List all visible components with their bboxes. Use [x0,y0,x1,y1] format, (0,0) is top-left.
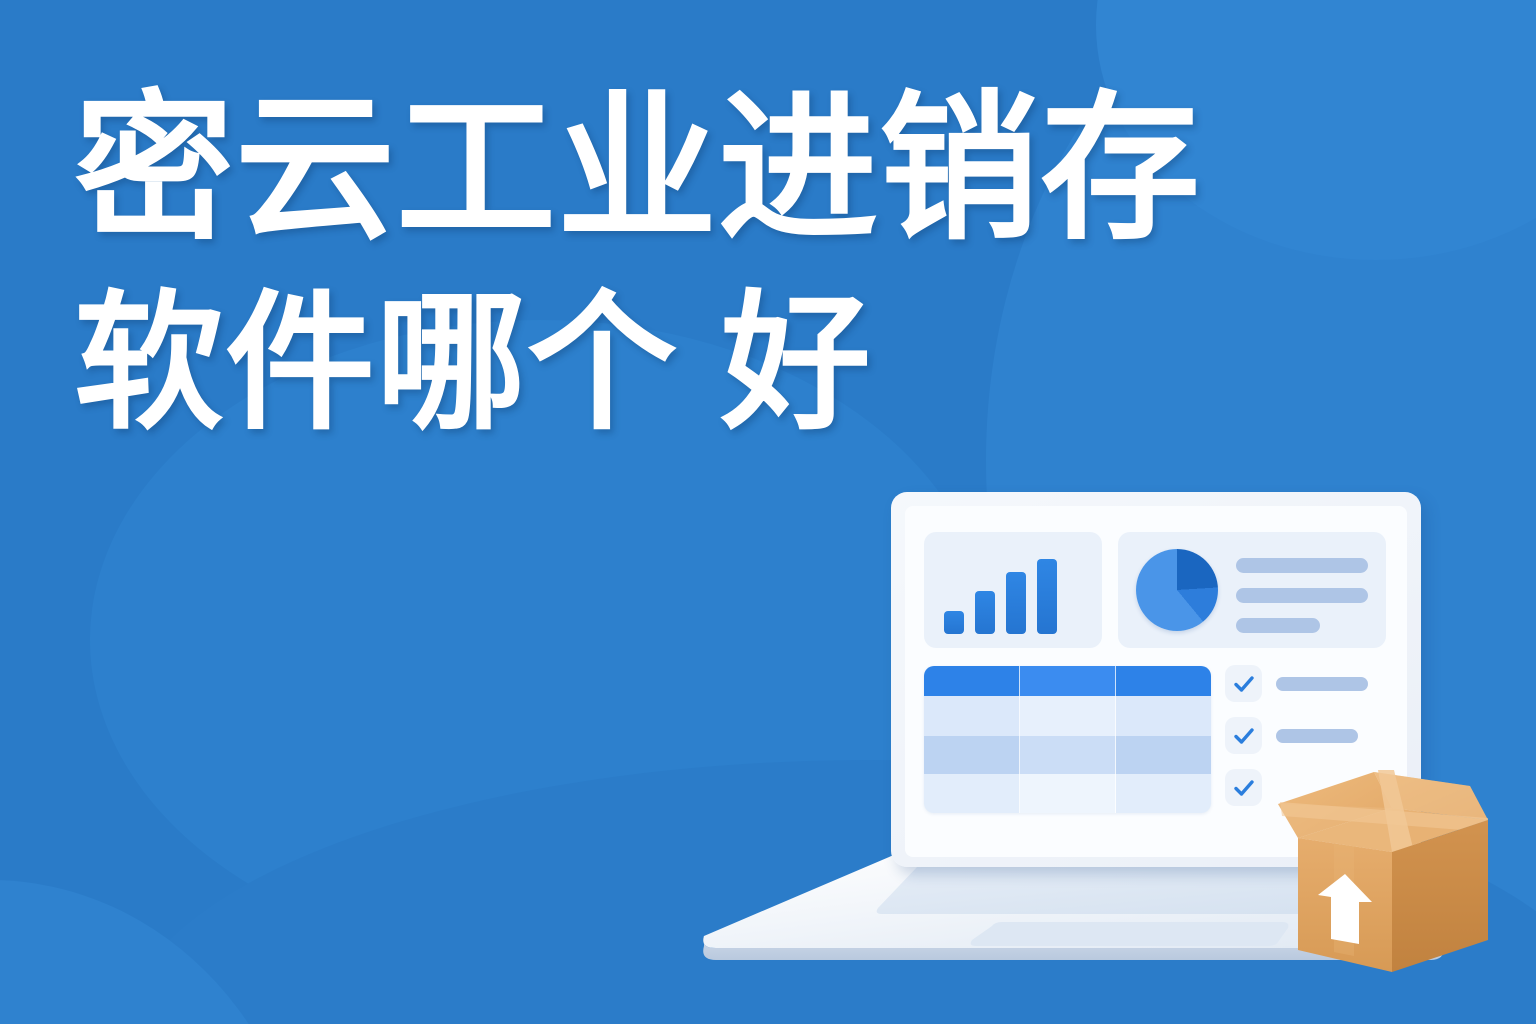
checklist-item-bar [1276,729,1358,743]
poster-canvas: 密云工业进销存 软件哪个 好 [0,0,1536,1024]
table-cell [924,696,1020,736]
checkmark-icon [1225,665,1262,702]
bar-4 [1037,559,1057,634]
table-header-cell [1116,666,1211,696]
table-header-cell [924,666,1020,696]
table-cell [1020,696,1116,736]
bar-3 [1006,572,1026,634]
headline-line-1: 密云工业进销存 [74,84,1474,254]
poster-headline: 密云工业进销存 软件哪个 好 [74,84,1474,443]
legend-bar-2 [1236,588,1368,603]
bar-chart-panel [924,532,1102,648]
checklist-item [1225,716,1390,755]
legend-bar-1 [1236,558,1368,573]
table-cell [924,736,1020,774]
table-header-cell [1020,666,1116,696]
bar-2 [975,591,995,634]
checklist-item [1225,664,1390,703]
cardboard-box-illustration [1274,756,1506,984]
table-row [924,736,1211,774]
table-cell [1116,774,1211,813]
table-cell [1020,774,1116,813]
table-cell [1116,736,1211,774]
pie-chart-panel [1118,532,1386,648]
bar-chart [944,552,1057,634]
table-cell [1116,696,1211,736]
bar-1 [944,611,964,634]
table-row [924,774,1211,813]
checkmark-icon [1225,769,1262,806]
headline-line-2: 软件哪个 好 [74,284,1474,443]
pie-chart-legend [1236,558,1368,648]
table-cell [924,774,1020,813]
table-row [924,696,1211,736]
pie-chart [1136,549,1218,631]
legend-bar-3 [1236,618,1320,633]
checklist-item-bar [1276,677,1368,691]
checkmark-icon [1225,717,1262,754]
data-table [924,666,1211,813]
table-cell [1020,736,1116,774]
table-header-row [924,666,1211,696]
